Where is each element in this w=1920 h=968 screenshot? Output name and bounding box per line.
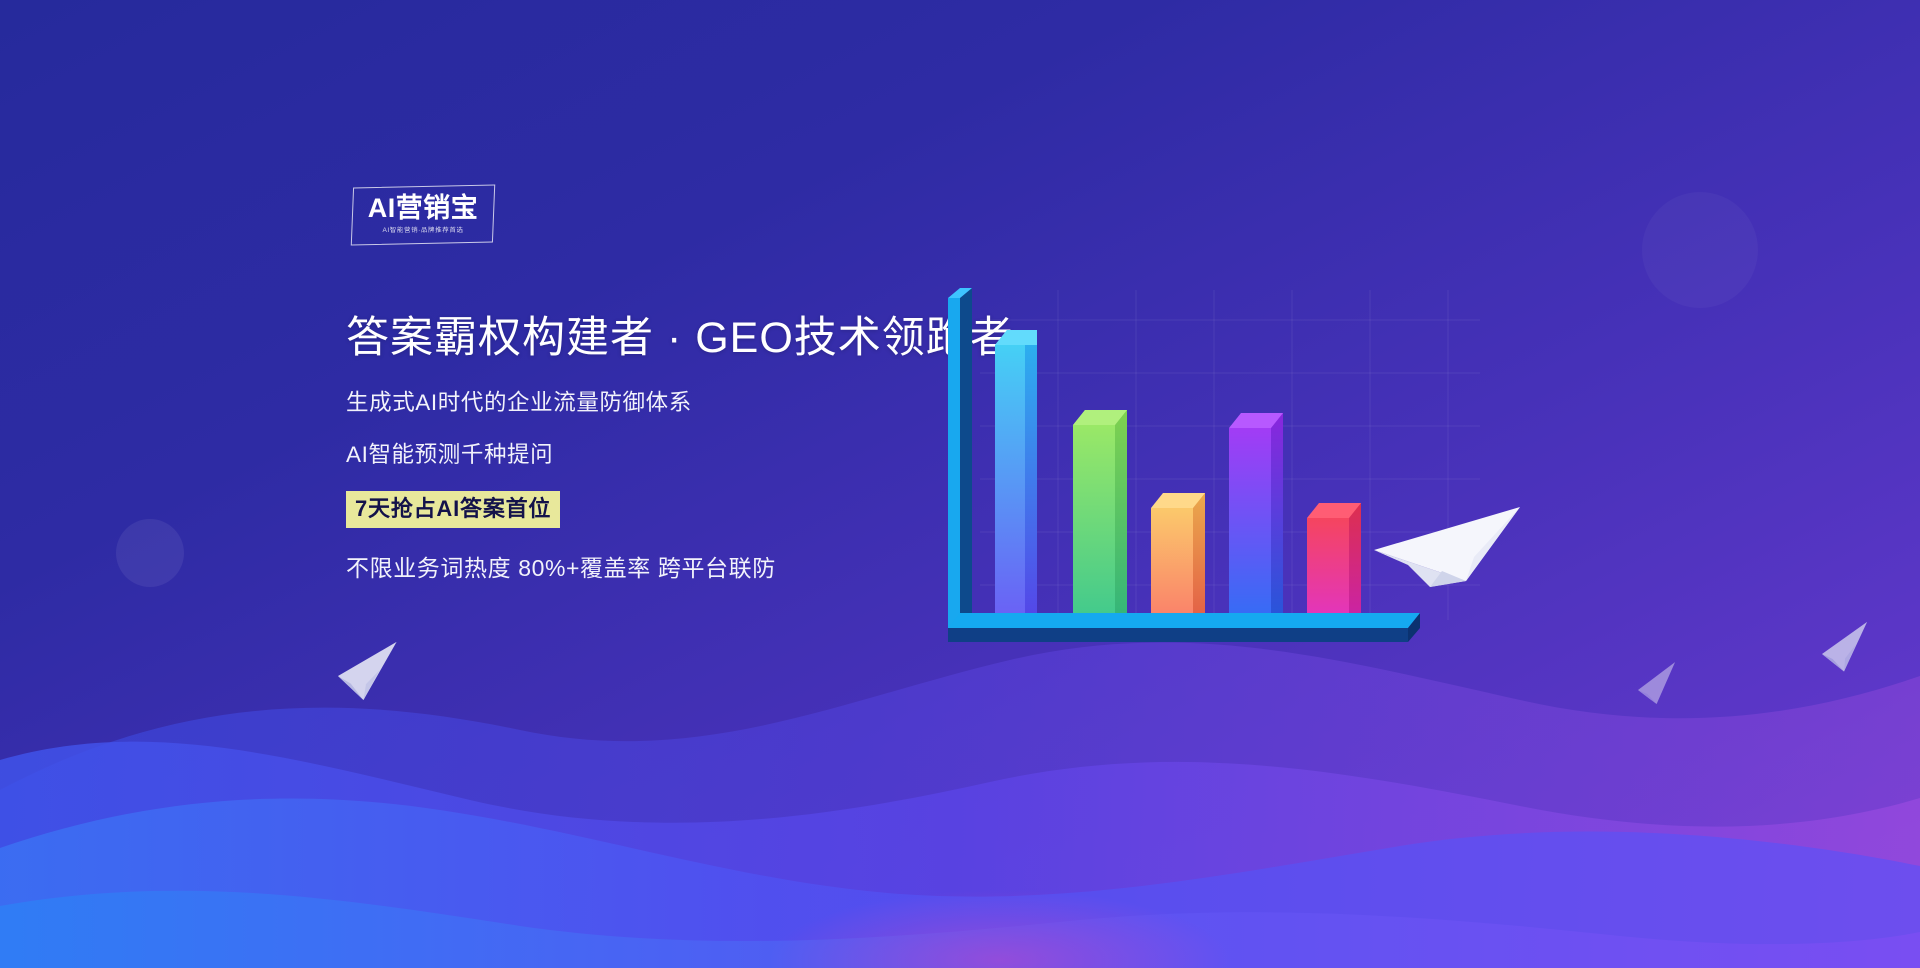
chart-bar-2 [1073, 410, 1127, 628]
bar-chart-svg [940, 280, 1500, 700]
chart-bar-4 [1229, 413, 1283, 628]
logo-wordmark: AI营销宝 [352, 193, 494, 223]
hero-banner: AI营销宝 AI智能营销·品牌推荐首选 答案霸权构建者 · GEO技术领跑者 生… [0, 0, 1920, 968]
hero-subline-1: 生成式AI时代的企业流量防御体系 [346, 389, 1006, 417]
chart-bar-1 [995, 330, 1037, 628]
hero-copy: 答案霸权构建者 · GEO技术领跑者 生成式AI时代的企业流量防御体系 AI智能… [346, 312, 1006, 582]
hero-subline-3: 不限业务词热度 80%+覆盖率 跨平台联防 [346, 554, 1006, 582]
logo-tagline: AI智能营销·品牌推荐首选 [352, 224, 494, 233]
chart-base [948, 613, 1420, 642]
circle-decor [1642, 192, 1758, 308]
chart-bar-5 [1307, 503, 1361, 628]
hero-subline-2: AI智能预测千种提问 [346, 441, 1006, 469]
hero-headline: 答案霸权构建者 · GEO技术领跑者 [346, 312, 1006, 364]
chart-bar-3 [1151, 493, 1205, 628]
bar-chart-illustration [940, 280, 1500, 700]
circle-decor [116, 519, 184, 587]
brand-logo[interactable]: AI营销宝 AI智能营销·品牌推荐首选 [352, 186, 494, 244]
hero-highlight-wrap: 7天抢占AI答案首位 [346, 491, 1006, 528]
hero-highlight-badge: 7天抢占AI答案首位 [346, 491, 560, 528]
paper-plane-large-icon [1370, 495, 1540, 615]
chart-y-axis [948, 288, 972, 628]
